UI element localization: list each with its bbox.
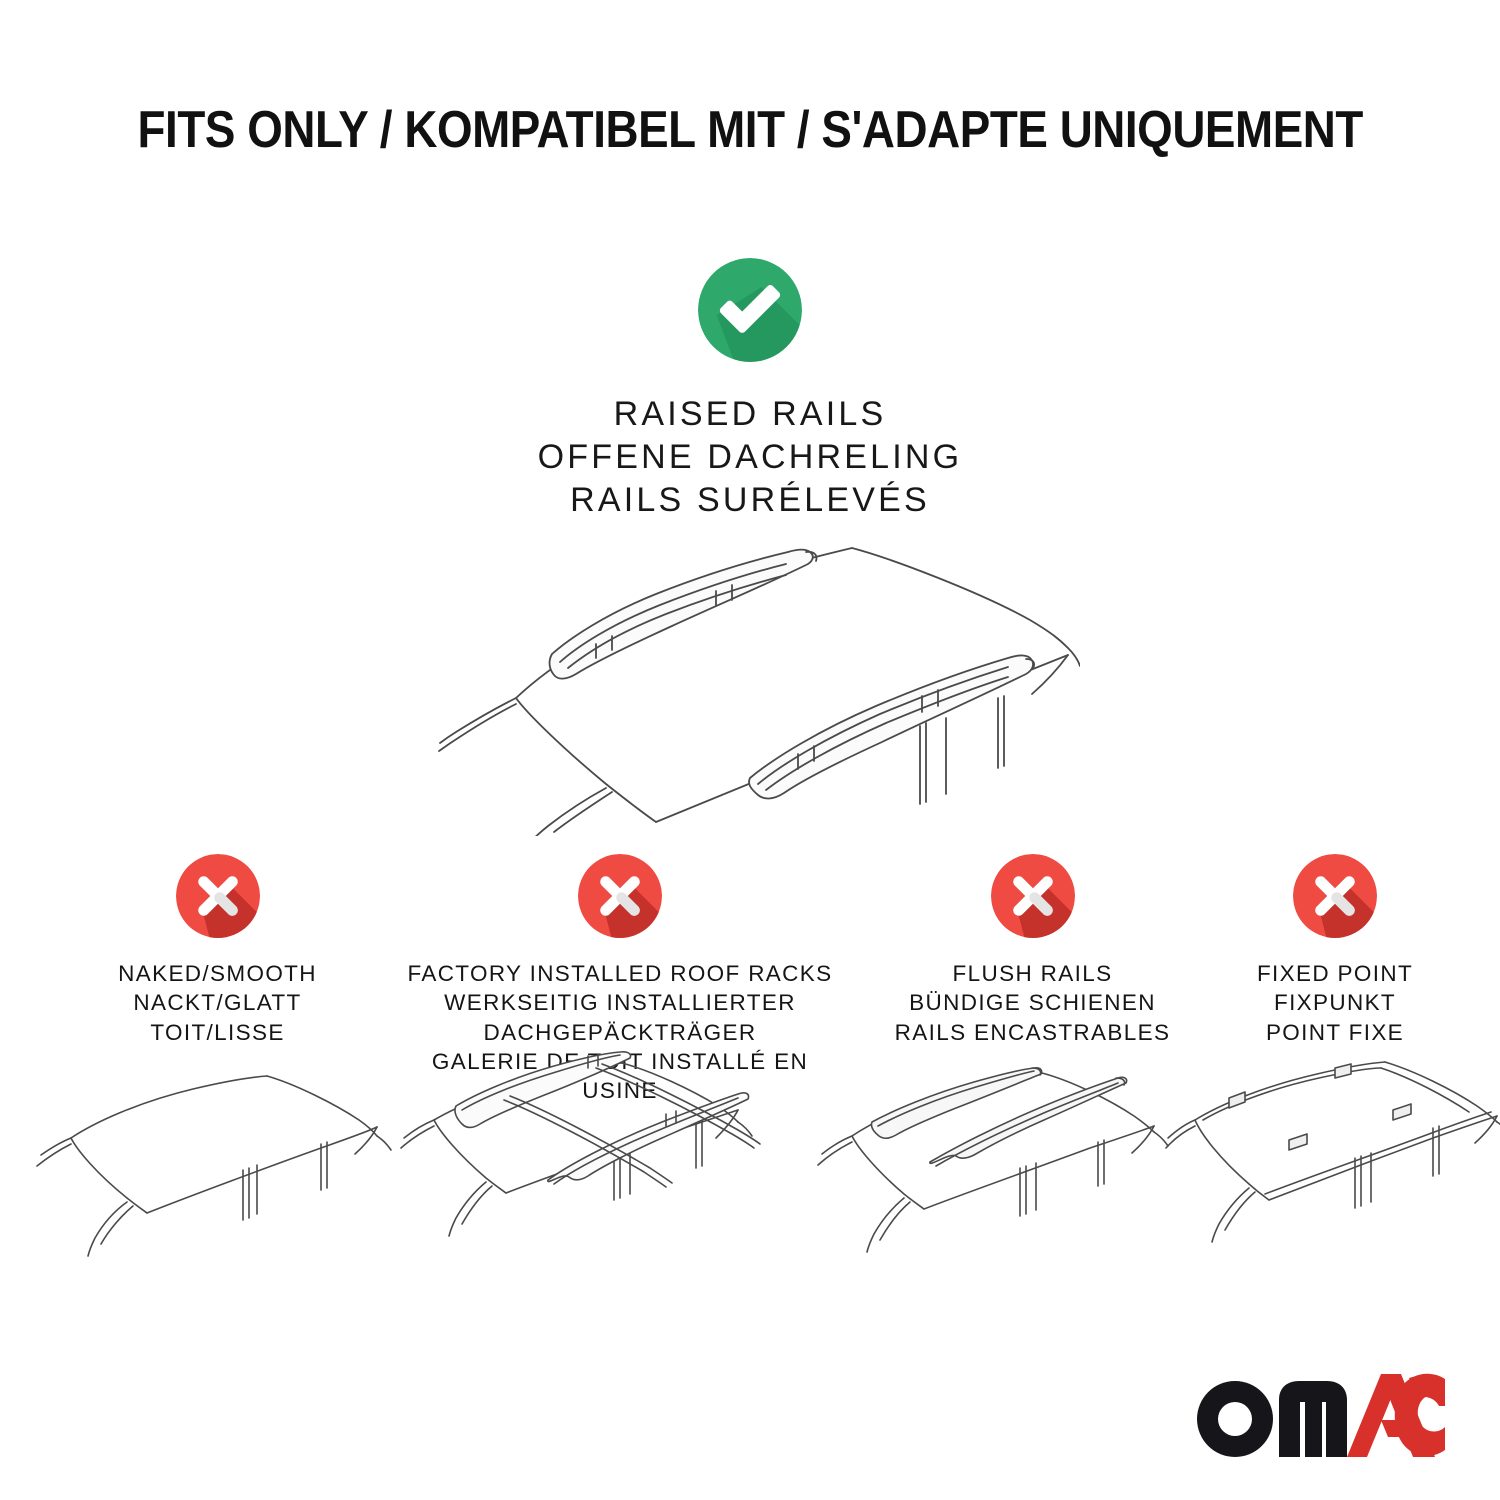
not-compatible-label: FLUSH RAILS BÜNDIGE SCHIENEN RAILS ENCAS…: [855, 959, 1210, 1047]
check-circle-icon: [698, 258, 802, 362]
x-circle-icon: [578, 854, 662, 938]
car-roof-raised-rails-diagram: [0, 516, 1500, 836]
not-compatible-label: FIXED POINT FIXPUNKT POINT FIXE: [1215, 959, 1455, 1047]
page-title-container: FITS ONLY / KOMPATIBEL MIT / S'ADAPTE UN…: [0, 104, 1500, 156]
compatible-section: RAISED RAILS OFFENE DACHRELING RAILS SUR…: [0, 258, 1500, 523]
car-roof-factory-racks-diagram: [400, 1050, 780, 1290]
car-roof-flush-rails-diagram: [810, 1058, 1190, 1288]
x-circle-icon: [1293, 854, 1377, 938]
not-compatible-item-naked-smooth: NAKED/SMOOTH NACKT/GLATT TOIT/LISSE: [45, 854, 390, 1047]
omac-logo: [1195, 1372, 1445, 1458]
not-compatible-label: NAKED/SMOOTH NACKT/GLATT TOIT/LISSE: [45, 959, 390, 1047]
fitment-infographic: FITS ONLY / KOMPATIBEL MIT / S'ADAPTE UN…: [0, 0, 1500, 1500]
not-compatible-item-fixed-point: FIXED POINT FIXPUNKT POINT FIXE: [1215, 854, 1455, 1047]
not-compatible-item-flush-rails: FLUSH RAILS BÜNDIGE SCHIENEN RAILS ENCAS…: [855, 854, 1210, 1047]
compatible-label: RAISED RAILS OFFENE DACHRELING RAILS SUR…: [0, 393, 1500, 523]
x-circle-icon: [991, 854, 1075, 938]
page-title: FITS ONLY / KOMPATIBEL MIT / S'ADAPTE UN…: [137, 104, 1362, 156]
car-roof-fixed-point-diagram: [1165, 1058, 1500, 1288]
x-circle-icon: [176, 854, 260, 938]
car-roof-naked-smooth-diagram: [35, 1058, 395, 1288]
